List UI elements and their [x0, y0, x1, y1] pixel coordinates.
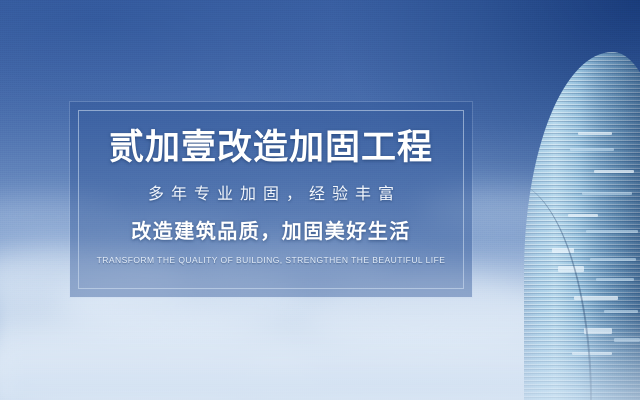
headline-panel: 贰加壹改造加固工程 多年专业加固，经验丰富 改造建筑品质，加固美好生活 TRAN… [70, 102, 472, 297]
english-tagline: TRANSFORM THE QUALITY OF BUILDING, STREN… [97, 256, 446, 265]
banner-image: 贰加壹改造加固工程 多年专业加固，经验丰富 改造建筑品质，加固美好生活 TRAN… [0, 0, 640, 400]
page-title: 贰加壹改造加固工程 [109, 130, 433, 165]
subtitle-text: 多年专业加固，经验丰富 [141, 187, 401, 203]
slogan-text: 改造建筑品质，加固美好生活 [131, 222, 411, 242]
